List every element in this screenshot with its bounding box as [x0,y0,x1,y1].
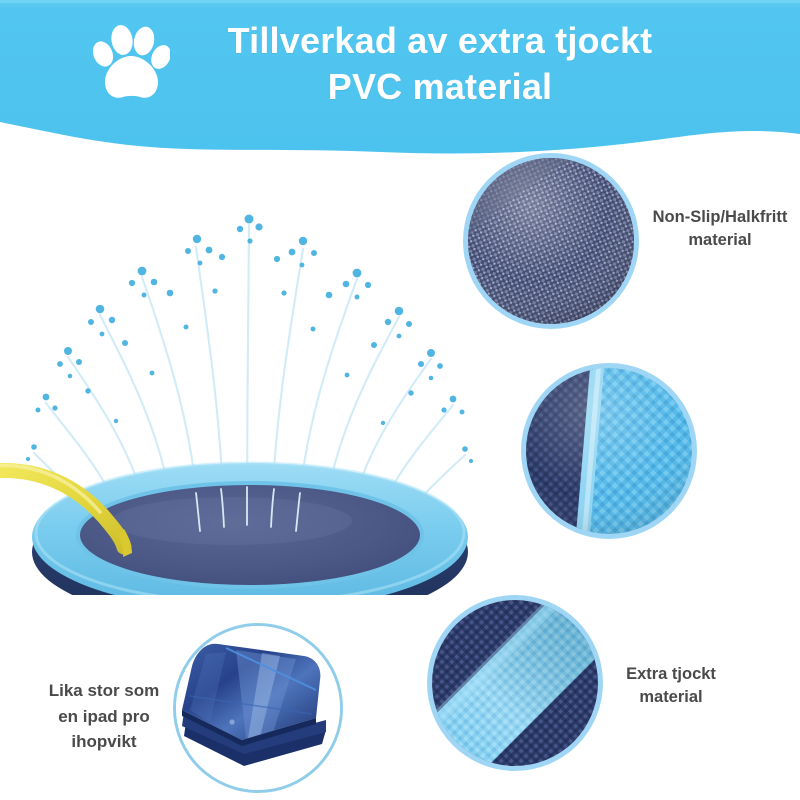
paw-print-icon [92,22,170,104]
header-banner: Tillverkad av extra tjockt PVC material [0,0,800,180]
header-title: Tillverkad av extra tjockt PVC material [160,18,720,110]
callout-label-ipad-size-line2: en ipad pro [28,704,180,730]
product-image-splash-pad [0,195,500,595]
callout-label-extra-thick-line1: Extra tjockt [596,663,746,686]
header-title-line1: Tillverkad av extra tjockt [228,20,653,61]
callout-label-ipad-size: Lika stor som en ipad pro ihopvikt [28,678,180,755]
callout-label-extra-thick-line2: material [596,686,746,709]
callout-circle-extra-thick [432,600,598,766]
callout-label-non-slip-line1: Non-Slip/Halkfritt [640,206,800,229]
callout-circle-ipad-size [176,626,340,790]
callout-label-ipad-size-line3: ihopvikt [28,729,180,755]
product-feature-banner: Tillverkad av extra tjockt PVC material [0,0,800,800]
callout-label-non-slip-line2: material [640,229,800,252]
callout-circle-seam [526,368,692,534]
header-title-line2: PVC material [160,64,720,110]
callout-label-extra-thick: Extra tjockt material [596,663,746,710]
callout-circle-non-slip [468,158,634,324]
callout-label-non-slip: Non-Slip/Halkfritt material [640,206,800,253]
callout-label-ipad-size-line1: Lika stor som [28,678,180,704]
